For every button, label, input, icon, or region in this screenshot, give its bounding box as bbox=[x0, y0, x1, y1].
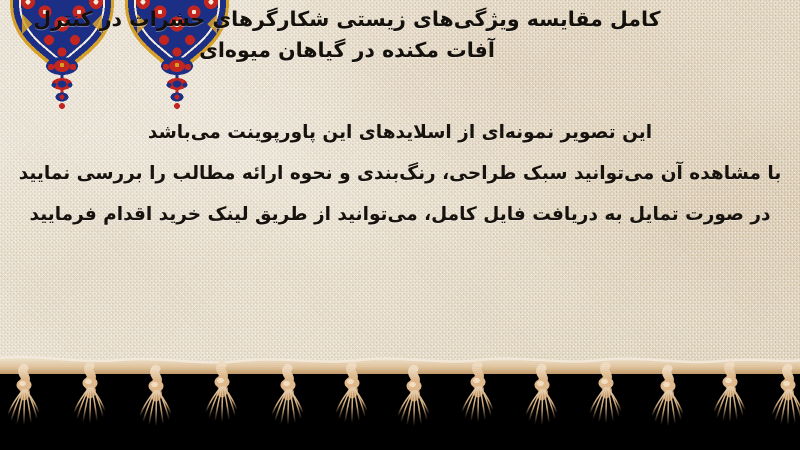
title-line-2: آفات مکنده در گیاهان میوه‌ای bbox=[22, 35, 782, 66]
body-line-1: این تصویر نمونه‌ای از اسلایدهای این پاور… bbox=[14, 112, 786, 153]
title-line-1: کامل مقایسه ویژگی‌های زیستی شکارگرهای حش… bbox=[22, 4, 782, 35]
slide-body: این تصویر نمونه‌ای از اسلایدهای این پاور… bbox=[14, 112, 786, 235]
slide-title: کامل مقایسه ویژگی‌های زیستی شکارگرهای حش… bbox=[22, 4, 782, 66]
body-line-3: در صورت تمایل به دریافت فایل کامل، می‌تو… bbox=[14, 194, 786, 235]
bottom-black-band bbox=[0, 368, 800, 450]
slide-text-layer: کامل مقایسه ویژگی‌های زیستی شکارگرهای حش… bbox=[0, 0, 800, 380]
body-line-2: با مشاهده آن می‌توانید سبک طراحی، رنگ‌بن… bbox=[14, 153, 786, 194]
slide-canvas: کامل مقایسه ویژگی‌های زیستی شکارگرهای حش… bbox=[0, 0, 800, 450]
